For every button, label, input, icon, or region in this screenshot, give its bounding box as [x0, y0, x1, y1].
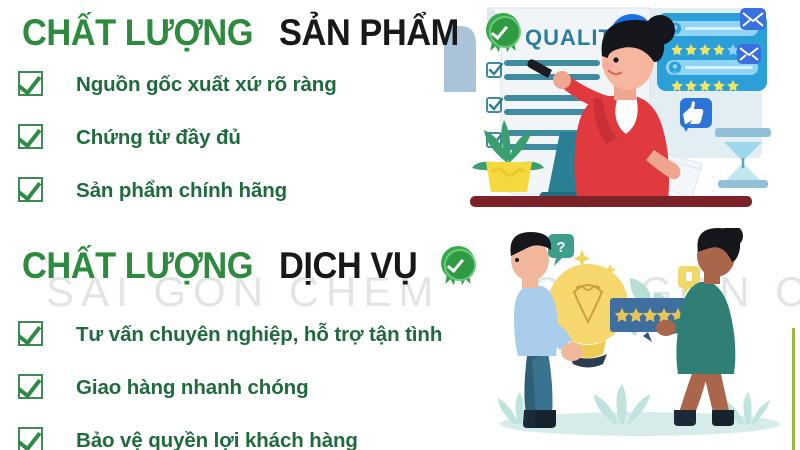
eye [613, 57, 618, 62]
boot [674, 410, 696, 426]
list-item-label: Chứng từ đầy đủ [76, 126, 241, 150]
list-item-label: Bảo vệ quyền lợi khách hàng [76, 429, 358, 450]
checkbox-checked-icon [18, 321, 45, 348]
desk-surface [470, 196, 752, 207]
eye [515, 258, 519, 262]
thumbs-up-icon [680, 98, 712, 132]
list-item-label: Giao hàng nhanh chóng [76, 376, 309, 400]
svg-text:?: ? [556, 239, 565, 256]
list-item: Bảo vệ quyền lợi khách hàng [18, 414, 442, 450]
boot [712, 410, 734, 426]
checkbox-checked-icon [18, 177, 45, 204]
list-item-label: Nguồn gốc xuất xứ rõ ràng [76, 73, 337, 97]
checkbox-checked-icon [18, 124, 45, 151]
question-speech-bubble-icon: ? [548, 234, 574, 266]
verified-rosette-icon [441, 246, 475, 286]
section-2-heading-green: CHẤT LƯỢNG [22, 245, 253, 287]
section-1-heading: CHẤT LƯỢNG SẢN PHẨM [22, 12, 520, 54]
list-item: Sản phẩm chính hãng [18, 164, 337, 217]
hand [561, 343, 583, 361]
leg [678, 368, 708, 416]
service-rating-illustration: ? [470, 228, 800, 450]
leg [704, 370, 730, 416]
list-item: Giao hàng nhanh chóng [18, 361, 442, 414]
checkbox-checked-icon [18, 71, 45, 98]
list-item: Nguồn gốc xuất xứ rõ ràng [18, 58, 337, 111]
section-1-list: Nguồn gốc xuất xứ rõ ràng Chứng từ đầy đ… [18, 58, 337, 217]
envelope-icon [740, 8, 766, 30]
checkbox-checked-icon [18, 427, 45, 450]
section-2-heading: CHẤT LƯỢNG DỊCH VỤ [22, 245, 475, 287]
edge-accent-line [792, 328, 795, 450]
woman-with-rating-card [656, 228, 743, 426]
envelope-icon [737, 44, 761, 64]
section-2-list: Tư vấn chuyên nghiệp, hỗ trợ tận tình Gi… [18, 308, 442, 450]
checkbox-checked-icon [18, 374, 45, 401]
poster-canvas: SAI GON CHEMSAI GON CHEM CHẤT LƯỢNG SẢN … [0, 0, 800, 450]
verified-rosette-icon [486, 13, 520, 53]
list-item-label: Sản phẩm chính hãng [76, 179, 287, 203]
section-1-heading-dark: SẢN PHẨM [279, 12, 459, 54]
hand [656, 320, 676, 336]
list-item-label: Tư vấn chuyên nghiệp, hỗ trợ tận tình [76, 323, 442, 347]
section-2-heading-dark: DỊCH VỤ [279, 245, 417, 287]
list-item: Chứng từ đầy đủ [18, 111, 337, 164]
boot [535, 410, 556, 428]
list-item: Tư vấn chuyên nghiệp, hỗ trợ tận tình [18, 308, 442, 361]
section-1-heading-green: CHẤT LƯỢNG [22, 12, 253, 54]
